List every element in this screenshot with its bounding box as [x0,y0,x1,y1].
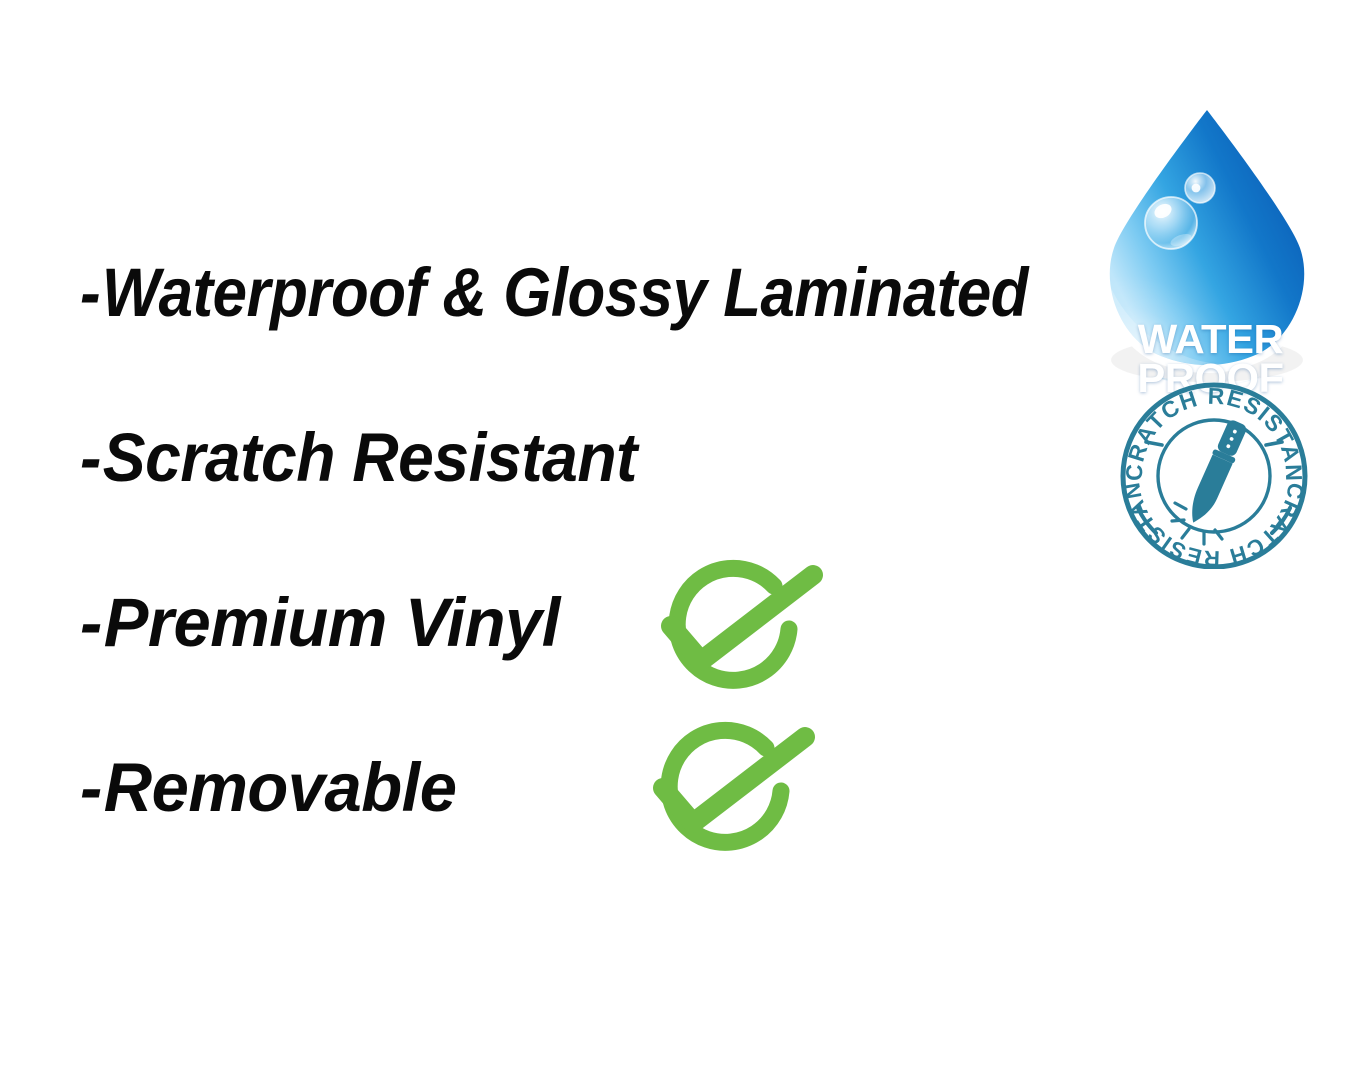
green-check-circle-icon [630,718,830,878]
feature-item-waterproof: -Waterproof & Glossy Laminated [80,258,1028,327]
feature-item-premium-vinyl: -Premium Vinyl [80,588,560,657]
checkmark-premium-vinyl [638,556,838,716]
knife-glyph [1183,418,1250,528]
knife-blade [1184,455,1233,528]
scratch-resistant-badge: SCRATCH RESISTANT SCRATCH RESISTANT [1116,377,1312,569]
knife-stamp-icon: SCRATCH RESISTANT SCRATCH RESISTANT [1116,377,1312,569]
feature-dash: - [80,423,101,492]
water-droplet-icon [1093,98,1328,388]
feature-highlights-graphic: -Waterproof & Glossy Laminated -Scratch … [0,0,1359,1080]
feature-dash: - [80,258,100,327]
feature-label: Removable [104,749,457,826]
feature-item-removable: -Removable [80,753,456,822]
droplet-bubble-large [1145,197,1197,249]
feature-item-scratch-resistant: -Scratch Resistant [80,423,637,492]
feature-label: Waterproof & Glossy Laminated [102,254,1028,331]
feature-label: Scratch Resistant [103,419,637,496]
green-check-circle-icon [638,556,838,716]
waterproof-badge: WATER PROOF [1093,98,1328,388]
feature-dash: - [80,588,102,657]
feature-dash: - [80,753,102,822]
checkmark-removable [630,718,830,878]
feature-label: Premium Vinyl [104,584,560,661]
